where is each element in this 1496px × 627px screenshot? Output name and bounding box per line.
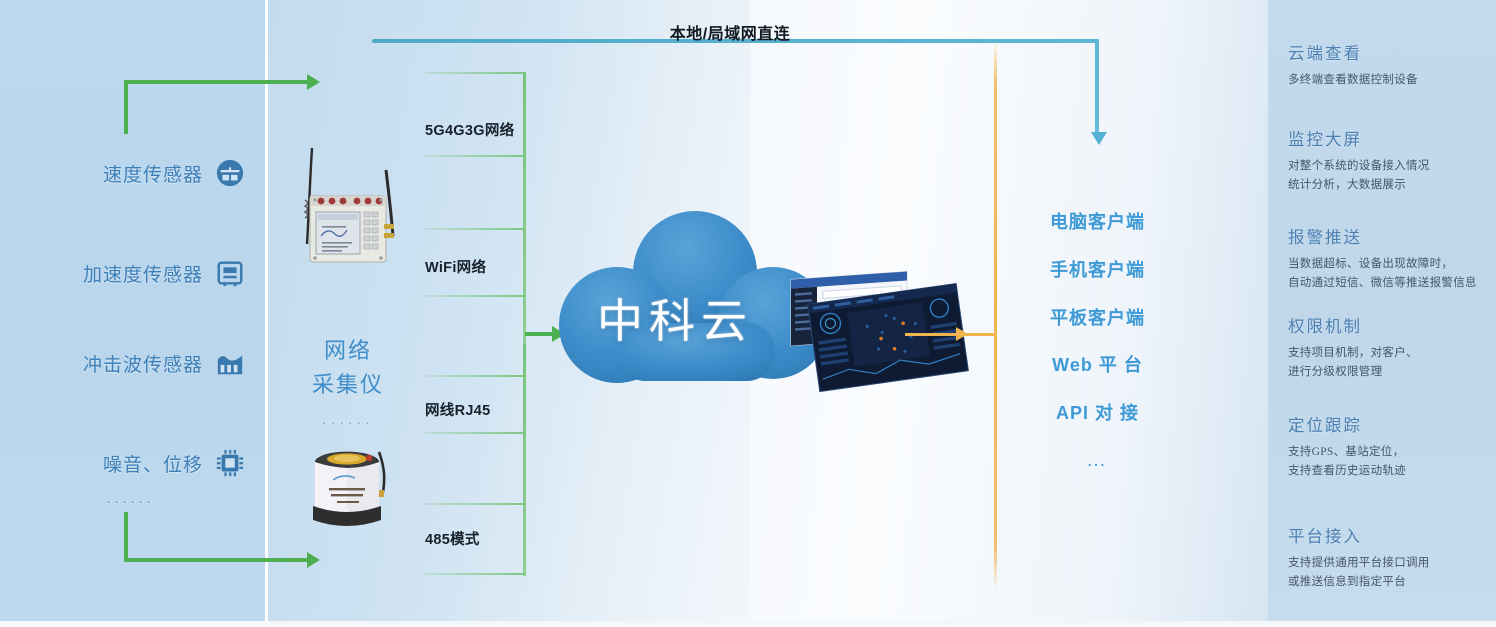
page-bottom-strip — [0, 621, 1496, 627]
shockwave-sensor-icon — [215, 348, 245, 378]
feature-line: 对整个系统的设备接入情况 — [1288, 157, 1493, 176]
noise-displacement-sensor-icon — [215, 448, 245, 478]
feature-title: 平台接入 — [1288, 523, 1493, 547]
cloud-outflow-line — [905, 333, 995, 336]
sensor-item-shockwave[interactable]: 冲击波传感器 — [30, 348, 245, 378]
network-rung — [425, 155, 525, 157]
client-item-mobile[interactable]: 手机客户端 — [1020, 256, 1175, 282]
client-item-tablet[interactable]: 平板客户端 — [1020, 304, 1175, 330]
sensor-item-speed[interactable]: 速度传感器 — [30, 158, 245, 188]
feature-title: 报警推送 — [1288, 224, 1493, 248]
feature-title: 定位跟踪 — [1288, 412, 1493, 436]
feature-location-tracking: 定位跟踪 支持GPS、基站定位， 支持查看历史运动轨迹 — [1288, 412, 1493, 481]
wireless-sensor-puck-image — [305, 440, 395, 535]
clients-more-indicator: … — [1020, 449, 1175, 472]
feature-line: 多终端查看数据控制设备 — [1288, 71, 1493, 90]
feature-line: 支持GPS、基站定位， — [1288, 443, 1493, 462]
sensor-flow-line-bottom-horizontal — [124, 558, 314, 562]
sensor-item-noise-displacement[interactable]: 噪音、位移 — [30, 448, 245, 478]
sensor-flow-line-top-vertical — [124, 82, 128, 134]
sensor-label: 加速度传感器 — [83, 260, 203, 287]
sensor-flow-arrow-bottom — [307, 552, 320, 568]
feature-line: 支持项目机制，对客户、 — [1288, 344, 1493, 363]
feature-line: 进行分级权限管理 — [1288, 363, 1493, 382]
feature-alarm-push: 报警推送 当数据超标、设备出现故障时， 自动通过短信、微信等推送报警信息 — [1288, 224, 1493, 293]
feature-monitor-wall: 监控大屏 对整个系统的设备接入情况 统计分析，大数据展示 — [1288, 126, 1493, 195]
network-rung — [425, 72, 525, 74]
client-distribution-spine — [994, 40, 997, 590]
feature-title: 云端查看 — [1288, 40, 1493, 64]
collector-more-indicator: ······ — [278, 414, 418, 430]
network-rung — [425, 573, 525, 575]
feature-line: 统计分析，大数据展示 — [1288, 176, 1493, 195]
feature-line: 支持提供通用平台接口调用 — [1288, 554, 1493, 573]
network-label-rj45: 网线RJ45 — [425, 399, 530, 420]
network-label-wifi: WiFi网络 — [425, 256, 530, 277]
client-item-web[interactable]: Web 平 台 — [1020, 351, 1175, 377]
feature-title: 权限机制 — [1288, 313, 1493, 337]
feature-line: 当数据超标、设备出现故障时， — [1288, 255, 1493, 274]
network-gateway-device-image — [290, 140, 410, 300]
sensor-flow-line-bottom-vertical — [124, 512, 128, 562]
lan-rail-vertical — [1095, 39, 1099, 137]
network-rung — [425, 228, 525, 230]
network-rung — [425, 295, 525, 297]
feature-permission: 权限机制 支持项目机制，对客户、 进行分级权限管理 — [1288, 313, 1493, 382]
sensors-more-indicator: ······ — [60, 493, 200, 510]
network-rung — [425, 432, 525, 434]
feature-line: 或推送信息到指定平台 — [1288, 573, 1493, 592]
network-rung — [425, 375, 525, 377]
client-item-pc[interactable]: 电脑客户端 — [1020, 208, 1175, 234]
lan-rail-arrow-down — [1091, 132, 1107, 145]
client-item-api[interactable]: API 对 接 — [1020, 399, 1175, 425]
feature-cloud-view: 云端查看 多终端查看数据控制设备 — [1288, 40, 1493, 90]
feature-line: 支持查看历史运动轨迹 — [1288, 462, 1493, 481]
banner-title: 本地/局域网直连 — [610, 20, 850, 44]
collector-title-line2: 采集仪 — [278, 369, 418, 400]
sensor-flow-line-top-horizontal — [124, 80, 314, 84]
network-rung — [425, 503, 525, 505]
cloud-outflow-arrow — [956, 327, 968, 341]
network-label-485: 485模式 — [425, 528, 530, 549]
sensor-item-acceleration[interactable]: 加速度传感器 — [30, 258, 245, 288]
acceleration-sensor-icon — [215, 258, 245, 288]
sensors-panel-background — [0, 0, 265, 621]
speed-sensor-icon — [215, 158, 245, 188]
feature-line: 自动通过短信、微信等推送报警信息 — [1288, 274, 1493, 293]
network-label-5g4g3g: 5G4G3G网络 — [425, 119, 530, 140]
feature-platform-access: 平台接入 支持提供通用平台接口调用 或推送信息到指定平台 — [1288, 523, 1493, 592]
network-ladder-spine-upper — [523, 72, 526, 344]
feature-title: 监控大屏 — [1288, 126, 1493, 150]
cloud-label: 中科云 — [545, 285, 805, 351]
sensor-label: 冲击波传感器 — [83, 350, 203, 377]
sensor-label: 噪音、位移 — [103, 450, 203, 477]
collector-title-line1: 网络 — [278, 335, 418, 366]
diagram-canvas: 速度传感器 加速度传感器 冲击波传感器 噪音、位移 — [0, 0, 1496, 627]
sensor-label: 速度传感器 — [103, 160, 203, 187]
dashboard-screen-image — [785, 258, 975, 393]
sensor-flow-arrow-top — [307, 74, 320, 90]
